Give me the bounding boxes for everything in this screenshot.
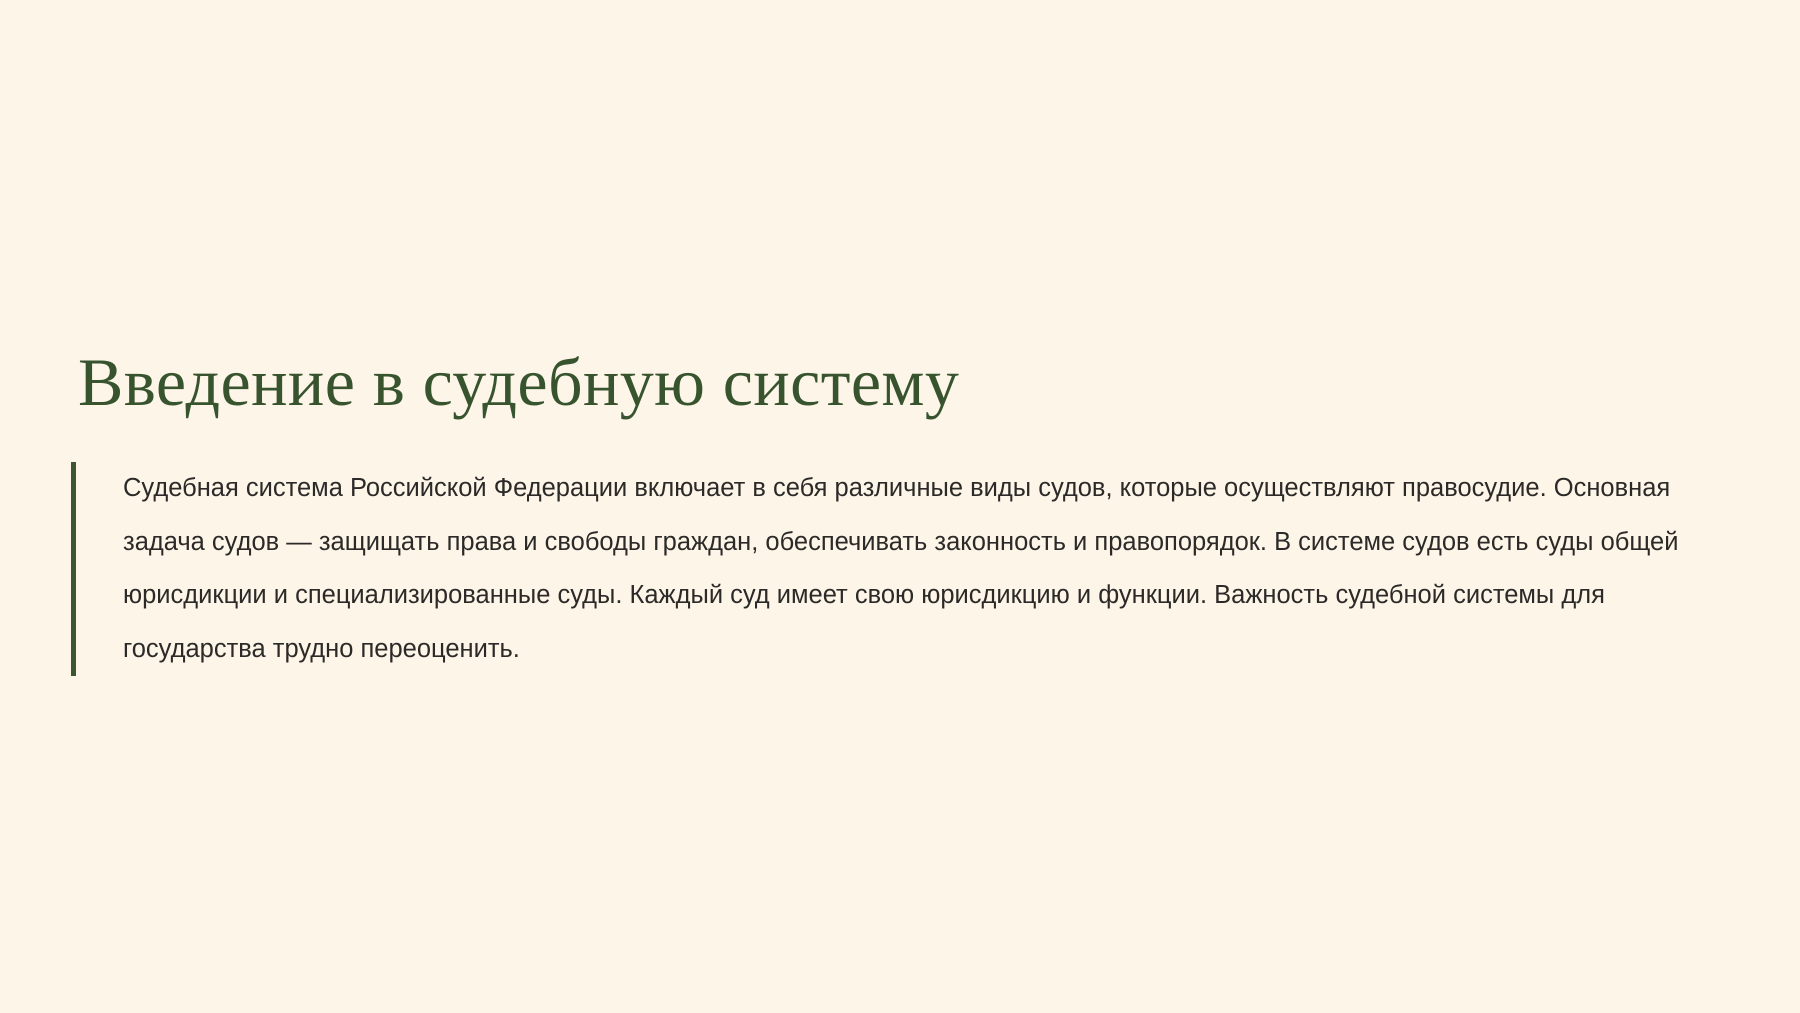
- page-title: Введение в судебную систему: [78, 340, 959, 424]
- body-paragraph: Судебная система Российской Федерации вк…: [76, 462, 1721, 676]
- body-callout: Судебная система Российской Федерации вк…: [71, 462, 1721, 676]
- slide-canvas: Введение в судебную систему Судебная сис…: [0, 0, 1800, 1013]
- slide-content: Введение в судебную систему Судебная сис…: [0, 0, 1800, 1013]
